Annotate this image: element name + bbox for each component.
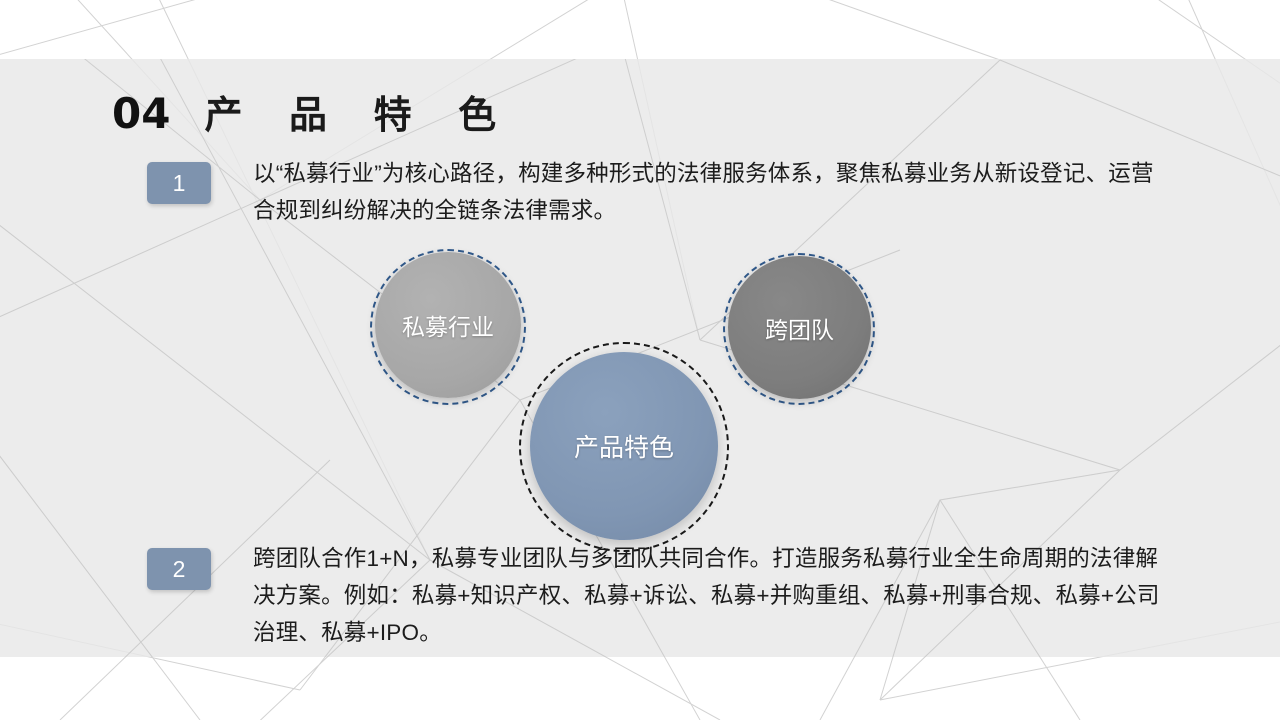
point-paragraph-1: 以“私募行业”为核心路径，构建多种形式的法律服务体系，聚焦私募业务从新设登记、运… [253,155,1163,229]
point-badge-2: 2 [147,548,211,590]
title-section-number: 04 [112,89,170,138]
page-title: 04 产 品 特 色 [112,84,514,139]
point-badge-1: 1 [147,162,211,204]
bubble-private-equity-industry: 私募行业 [375,252,521,398]
bubble-product-features: 产品特色 [530,352,718,540]
slide-canvas: 04 产 品 特 色 1 以“私募行业”为核心路径，构建多种形式的法律服务体系，… [0,0,1280,720]
point-paragraph-2: 跨团队合作1+N，私募专业团队与多团队共同合作。打造服务私募行业全生命周期的法律… [253,540,1163,651]
title-heading-text: 产 品 特 色 [204,84,514,139]
bubble-cross-team: 跨团队 [728,256,871,399]
